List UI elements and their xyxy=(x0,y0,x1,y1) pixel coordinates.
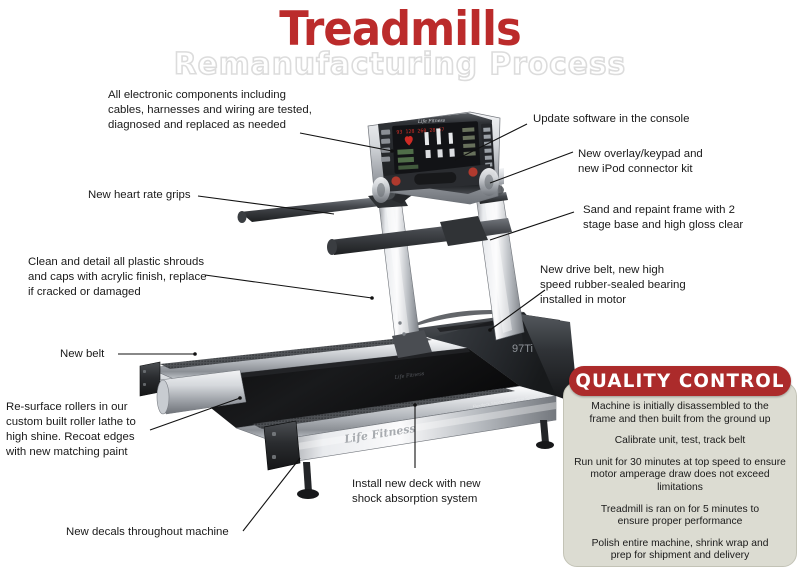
callout-software: Update software in the console xyxy=(533,112,733,127)
console-handle xyxy=(414,172,457,185)
stop-button-left xyxy=(391,176,400,185)
qc-item: Treadmill is ran on for 5 minutes to ens… xyxy=(572,504,788,529)
callout-rollers: Re-surface rollers in our custom built r… xyxy=(6,400,156,460)
callout-heart-rate-grips: New heart rate grips xyxy=(88,188,218,203)
callout-deck: Install new deck with new shock absorpti… xyxy=(352,477,527,507)
heart-rate-grip-left xyxy=(240,198,380,222)
quality-control-banner-label: QUALITY CONTROL xyxy=(575,370,784,392)
callout-drive-belt: New drive belt, new high speed rubber-se… xyxy=(540,263,725,308)
console: 93 128 260 28 67 xyxy=(368,112,500,204)
model-label: 97Ti xyxy=(512,343,533,355)
qc-item: Run unit for 30 minutes at top speed to … xyxy=(572,457,788,495)
stop-button-right xyxy=(468,167,477,176)
callout-decals: New decals throughout machine xyxy=(66,525,266,540)
callout-overlay-keypad: New overlay/keypad and new iPod connecto… xyxy=(578,147,758,177)
quality-control-panel: Machine is initially disassembled to the… xyxy=(563,382,797,567)
callout-repaint-frame: Sand and repaint frame with 2 stage base… xyxy=(583,203,783,233)
quality-control-banner: QUALITY CONTROL xyxy=(569,366,791,396)
qc-item: Calibrate unit, test, track belt xyxy=(572,435,788,448)
qc-item: Polish entire machine, shrink wrap and p… xyxy=(572,538,788,563)
qc-item: Machine is initially disassembled to the… xyxy=(572,401,788,426)
callout-electronics: All electronic components including cabl… xyxy=(108,88,313,133)
callout-plastic-shrouds: Clean and detail all plastic shrouds and… xyxy=(28,255,218,300)
infographic-canvas: Treadmills Remanufacturing Process xyxy=(0,0,800,571)
callout-new-belt: New belt xyxy=(60,347,130,362)
